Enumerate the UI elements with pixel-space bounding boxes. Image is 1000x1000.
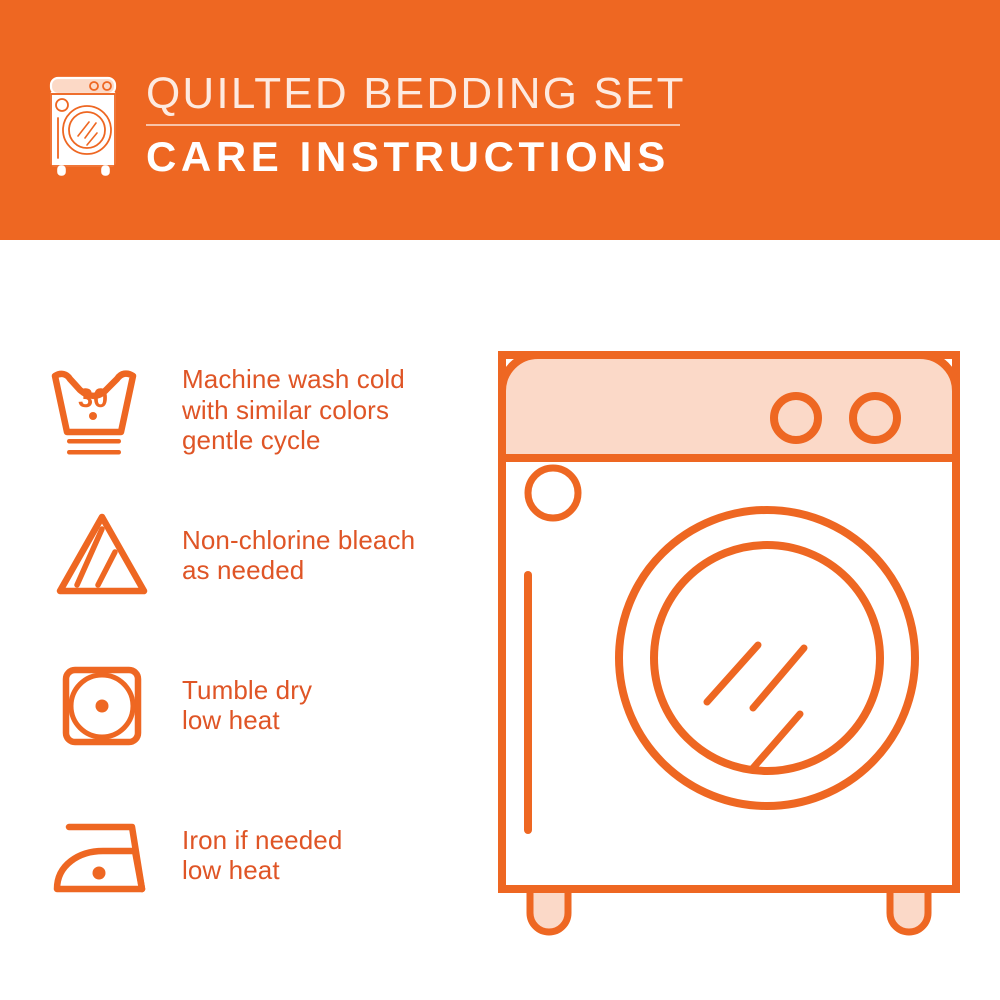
care-row-tumble-dry: Tumble dry low heat xyxy=(0,645,470,765)
door-inner-ring[interactable] xyxy=(654,545,880,771)
care-text-bleach: Non-chlorine bleach as needed xyxy=(182,525,415,586)
knob-left[interactable] xyxy=(774,396,818,440)
care-text-machine-wash: Machine wash cold with similar colors ge… xyxy=(182,364,405,456)
care-line: low heat xyxy=(182,855,342,886)
care-line: as needed xyxy=(182,555,415,586)
care-line: low heat xyxy=(182,705,312,736)
washing-machine-icon xyxy=(44,72,130,176)
header-divider xyxy=(146,124,680,126)
non-chlorine-bleach-triangle-icon xyxy=(42,500,162,610)
care-line: Machine wash cold xyxy=(182,364,405,395)
knob-right[interactable] xyxy=(853,396,897,440)
page-title: QUILTED BEDDING SET xyxy=(146,68,706,120)
care-line: with similar colors xyxy=(182,395,405,426)
tumble-dry-low-heat-icon xyxy=(42,650,162,760)
iron-low-heat-icon xyxy=(42,800,162,910)
care-row-iron: Iron if needed low heat xyxy=(0,795,470,915)
care-line: Iron if needed xyxy=(182,825,342,856)
care-text-iron: Iron if needed low heat xyxy=(182,825,342,886)
care-row-machine-wash: 30 Machine wash cold with similar colors… xyxy=(0,350,470,470)
care-instruction-list: 30 Machine wash cold with similar colors… xyxy=(0,240,500,1000)
wash-tub-30-gentle-icon: 30 xyxy=(42,355,162,465)
detergent-button[interactable] xyxy=(528,468,578,518)
care-line: Non-chlorine bleach xyxy=(182,525,415,556)
page-subtitle: CARE INSTRUCTIONS xyxy=(146,132,706,182)
care-line: Tumble dry xyxy=(182,675,312,706)
care-text-tumble-dry: Tumble dry low heat xyxy=(182,675,312,736)
front-load-washing-machine-illustration xyxy=(490,325,980,945)
care-line: gentle cycle xyxy=(182,425,405,456)
care-row-bleach: Non-chlorine bleach as needed xyxy=(0,495,470,615)
header-banner: QUILTED BEDDING SET CARE INSTRUCTIONS xyxy=(0,0,1000,240)
wash-temperature-label: 30 xyxy=(78,383,108,413)
header-text-block: QUILTED BEDDING SET CARE INSTRUCTIONS xyxy=(146,68,706,182)
